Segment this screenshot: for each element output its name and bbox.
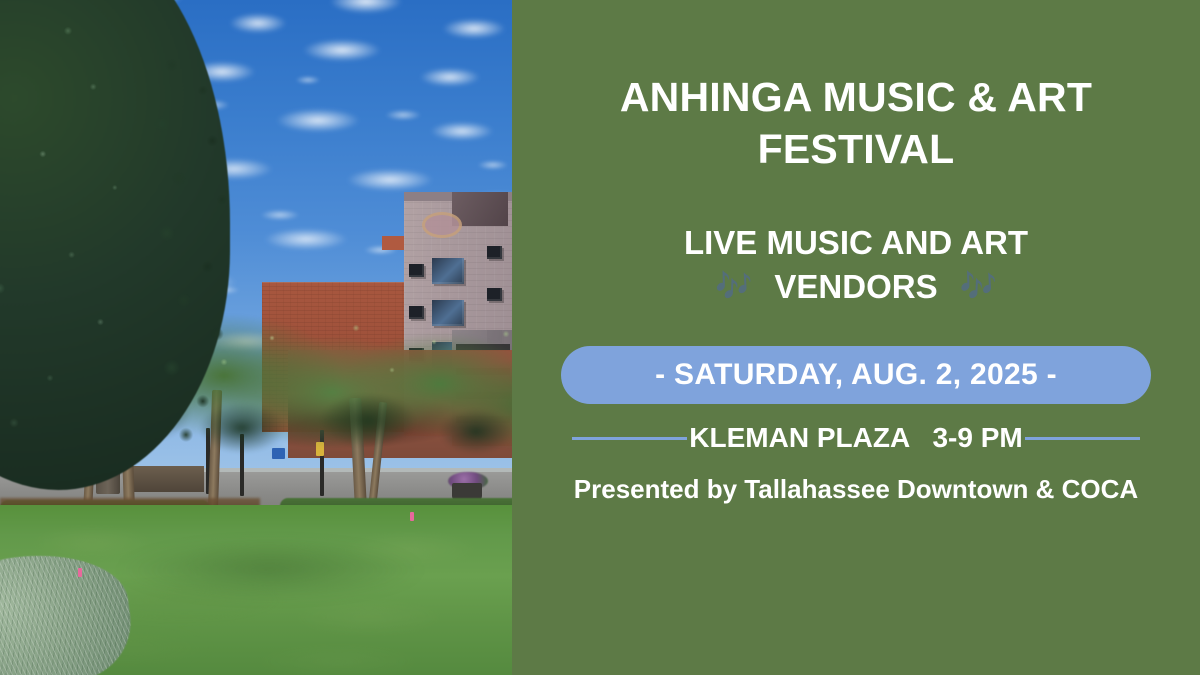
building-medallion — [422, 212, 462, 238]
divider-rule-right — [1025, 437, 1140, 440]
divider-rule-left — [572, 437, 687, 440]
presenter-credit: Presented by Tallahassee Downtown & COCA — [516, 474, 1196, 505]
event-subtitle: LIVE MUSIC AND ART 🎶 VENDORS 🎶 — [536, 221, 1176, 308]
window — [487, 246, 502, 259]
venue-and-time: KLEMAN PLAZA 3-9 PM — [687, 422, 1024, 454]
large-tree-edge-leaves — [150, 40, 270, 460]
page-title: ANHINGA MUSIC & ART FESTIVAL — [556, 72, 1156, 175]
vendors-label: VENDORS — [774, 265, 937, 309]
title-line-1: ANHINGA MUSIC & ART — [556, 72, 1156, 124]
marker-flag — [78, 568, 82, 577]
window — [432, 258, 464, 284]
title-line-2: FESTIVAL — [556, 124, 1156, 176]
event-photo — [0, 0, 512, 675]
event-date-text: - SATURDAY, AUG. 2, 2025 - — [655, 358, 1057, 392]
window — [409, 264, 424, 277]
musical-notes-icon: 🎶 — [715, 272, 752, 302]
subtitle-line-2: 🎶 VENDORS 🎶 — [536, 265, 1176, 309]
event-date-badge: - SATURDAY, AUG. 2, 2025 - — [561, 346, 1151, 404]
musical-notes-icon: 🎶 — [960, 272, 997, 302]
subtitle-line-1: LIVE MUSIC AND ART — [536, 221, 1176, 265]
event-details-panel: ANHINGA MUSIC & ART FESTIVAL LIVE MUSIC … — [512, 0, 1200, 675]
event-poster: ANHINGA MUSIC & ART FESTIVAL LIVE MUSIC … — [0, 0, 1200, 675]
lawn-shadow — [120, 540, 420, 600]
venue-time-row: KLEMAN PLAZA 3-9 PM — [572, 422, 1140, 454]
marker-flag — [410, 512, 414, 521]
